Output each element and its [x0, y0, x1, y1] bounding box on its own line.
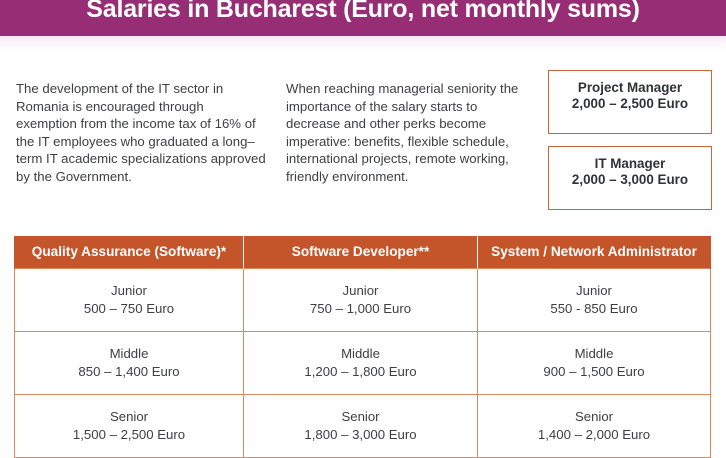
banner-gradient-divider	[0, 36, 726, 52]
column-header-quality-assurance: Quality Assurance (Software)*	[15, 236, 244, 268]
column-header-system-network-administrator: System / Network Administrator	[478, 236, 711, 268]
cell-level-label: Middle	[482, 345, 706, 363]
cell-level-label: Junior	[248, 282, 473, 300]
cell-range-value: 750 – 1,000 Euro	[248, 300, 473, 318]
table-row: Middle 850 – 1,400 Euro Middle 1,200 – 1…	[15, 331, 711, 394]
cell-range-value: 1,800 – 3,000 Euro	[248, 426, 473, 444]
project-manager-range: 2,000 – 2,500 Euro	[549, 96, 711, 112]
cell-level-label: Senior	[482, 408, 706, 426]
intro-paragraph-middle: When reaching managerial seniority the i…	[286, 80, 526, 185]
salary-table: Quality Assurance (Software)* Software D…	[14, 236, 711, 458]
cell-sysadmin-middle: Middle 900 – 1,500 Euro	[478, 331, 711, 394]
cell-level-label: Junior	[482, 282, 706, 300]
cell-range-value: 850 – 1,400 Euro	[19, 363, 239, 381]
cell-level-label: Senior	[248, 408, 473, 426]
page-title: Salaries in Bucharest (Euro, net monthly…	[0, 0, 726, 24]
cell-range-value: 500 – 750 Euro	[19, 300, 239, 318]
intro-paragraph-left: The development of the IT sector in Roma…	[16, 80, 268, 185]
cell-sysadmin-senior: Senior 1,400 – 2,000 Euro	[478, 394, 711, 457]
table-header-row: Quality Assurance (Software)* Software D…	[15, 236, 711, 268]
cell-level-label: Middle	[19, 345, 239, 363]
cell-range-value: 1,500 – 2,500 Euro	[19, 426, 239, 444]
cell-range-value: 900 – 1,500 Euro	[482, 363, 706, 381]
project-manager-box: Project Manager 2,000 – 2,500 Euro	[548, 70, 712, 134]
cell-dev-middle: Middle 1,200 – 1,800 Euro	[244, 331, 478, 394]
cell-qa-junior: Junior 500 – 750 Euro	[15, 268, 244, 331]
project-manager-role: Project Manager	[549, 80, 711, 96]
cell-level-label: Junior	[19, 282, 239, 300]
cell-level-label: Middle	[248, 345, 473, 363]
cell-qa-senior: Senior 1,500 – 2,500 Euro	[15, 394, 244, 457]
it-manager-range: 2,000 – 3,000 Euro	[549, 172, 711, 188]
cell-range-value: 550 - 850 Euro	[482, 300, 706, 318]
cell-dev-junior: Junior 750 – 1,000 Euro	[244, 268, 478, 331]
cell-dev-senior: Senior 1,800 – 3,000 Euro	[244, 394, 478, 457]
column-header-software-developer: Software Developer**	[244, 236, 478, 268]
cell-range-value: 1,400 – 2,000 Euro	[482, 426, 706, 444]
cell-sysadmin-junior: Junior 550 - 850 Euro	[478, 268, 711, 331]
table-row: Junior 500 – 750 Euro Junior 750 – 1,000…	[15, 268, 711, 331]
cell-level-label: Senior	[19, 408, 239, 426]
cell-qa-middle: Middle 850 – 1,400 Euro	[15, 331, 244, 394]
page-banner: Salaries in Bucharest (Euro, net monthly…	[0, 0, 726, 36]
it-manager-role: IT Manager	[549, 156, 711, 172]
it-manager-box: IT Manager 2,000 – 3,000 Euro	[548, 146, 712, 210]
table-row: Senior 1,500 – 2,500 Euro Senior 1,800 –…	[15, 394, 711, 457]
cell-range-value: 1,200 – 1,800 Euro	[248, 363, 473, 381]
